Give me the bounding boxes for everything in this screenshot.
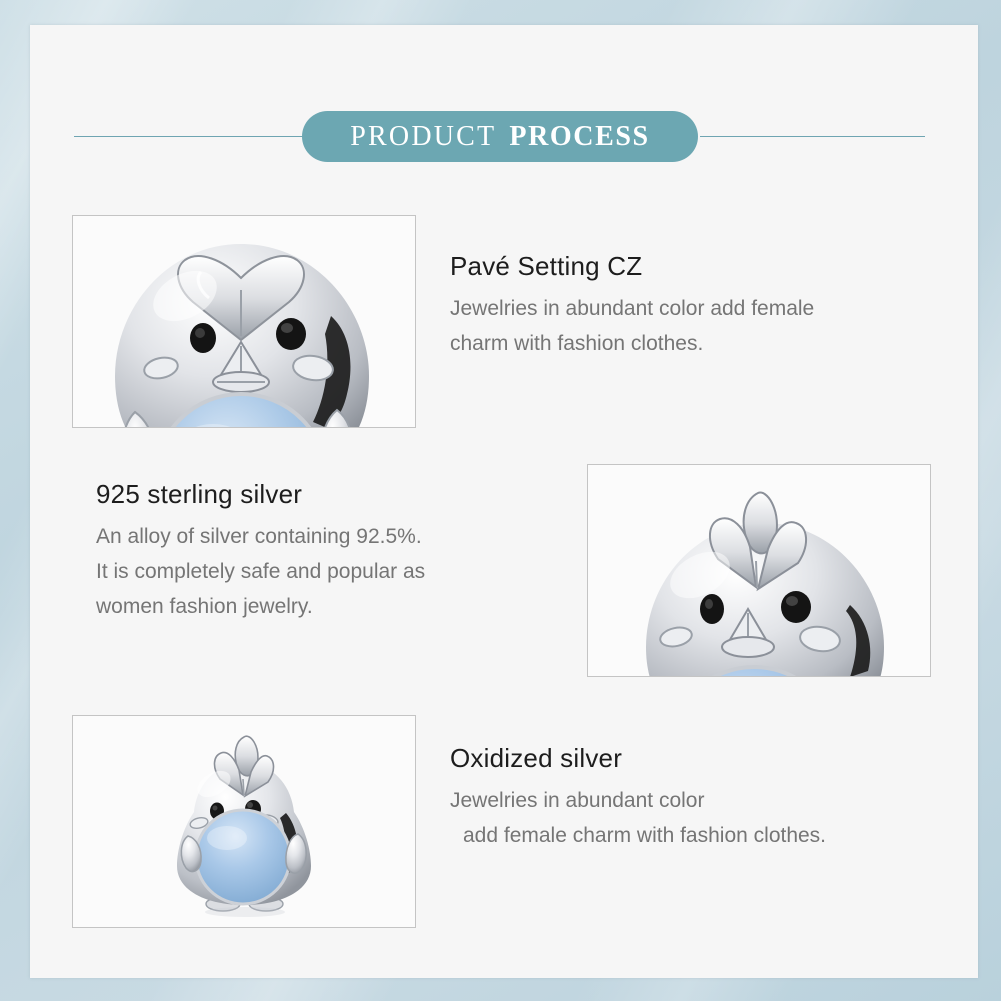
feature-desc-1-line-2: charm with fashion clothes. bbox=[450, 326, 920, 361]
product-image-2[interactable] bbox=[587, 464, 931, 677]
feature-desc-3-line-2: add female charm with fashion clothes. bbox=[450, 818, 920, 853]
feature-text-3: Oxidized silver Jewelries in abundant co… bbox=[450, 743, 920, 853]
content-card: PRODUCTPROCESS bbox=[30, 25, 978, 978]
section-header: PRODUCTPROCESS bbox=[30, 86, 978, 162]
title-word-product: PRODUCT bbox=[350, 121, 496, 152]
feature-desc-2-line-1: An alloy of silver containing 92.5%. bbox=[96, 519, 536, 554]
penguin-charm-full-svg bbox=[73, 716, 415, 927]
feature-desc-2-line-3: women fashion jewelry. bbox=[96, 589, 536, 624]
feature-text-2: 925 sterling silver An alloy of silver c… bbox=[96, 479, 536, 624]
feature-title-2: 925 sterling silver bbox=[96, 479, 536, 510]
page-title: PRODUCTPROCESS bbox=[350, 121, 649, 153]
feature-title-3: Oxidized silver bbox=[450, 743, 920, 774]
header-rule-right bbox=[700, 136, 925, 137]
feature-desc-1-line-1: Jewelries in abundant color add female bbox=[450, 291, 920, 326]
feature-desc-2-line-2: It is completely safe and popular as bbox=[96, 554, 536, 589]
header-banner: PRODUCTPROCESS bbox=[302, 111, 698, 162]
feature-desc-3-line-1: Jewelries in abundant color bbox=[450, 783, 920, 818]
product-image-1[interactable] bbox=[72, 215, 416, 428]
feature-title-1: Pavé Setting CZ bbox=[450, 251, 920, 282]
penguin-charm-head-closeup-right-svg bbox=[588, 465, 930, 676]
product-image-3[interactable] bbox=[72, 715, 416, 928]
page-background: PRODUCTPROCESS bbox=[0, 0, 1001, 1001]
penguin-charm-head-closeup-svg bbox=[73, 216, 415, 427]
feature-text-1: Pavé Setting CZ Jewelries in abundant co… bbox=[450, 251, 920, 361]
header-rule-left bbox=[74, 136, 304, 137]
title-word-process: PROCESS bbox=[509, 121, 649, 152]
